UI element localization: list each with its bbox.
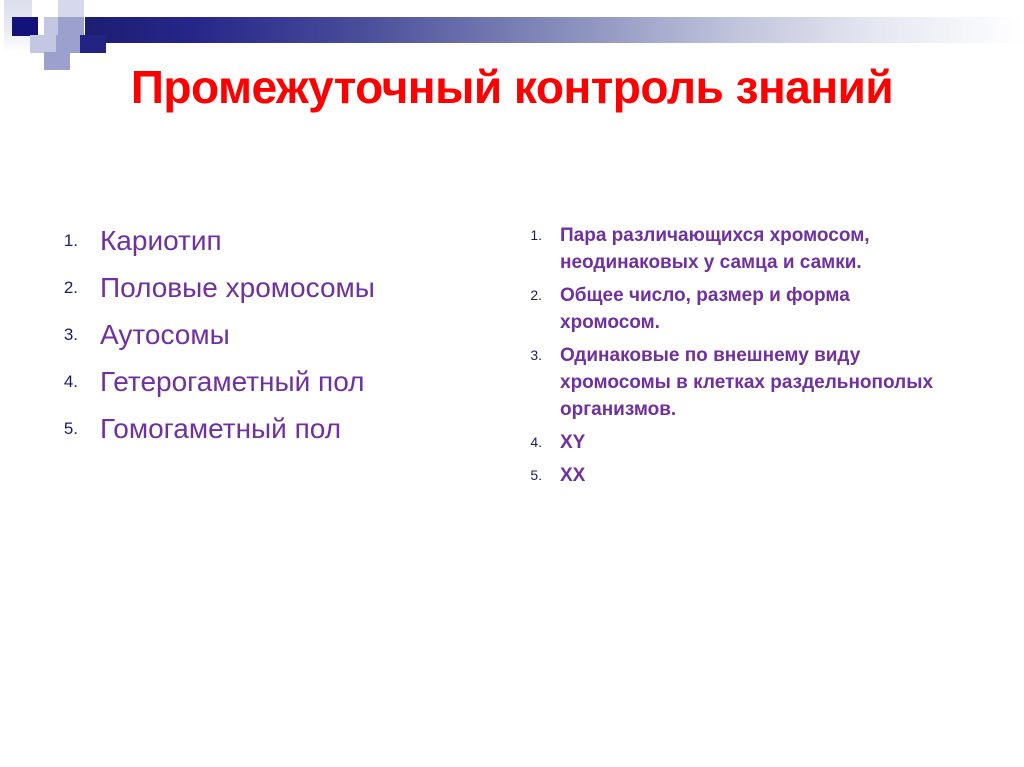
list-item-number: 5. xyxy=(518,462,546,489)
header-gradient-bar xyxy=(85,17,1024,43)
list-item-label: XX xyxy=(546,462,585,489)
list-item-number: 1. xyxy=(518,222,546,249)
list-item: 4. XY xyxy=(518,429,948,456)
list-item: 2. Половые хромосомы xyxy=(48,269,498,307)
list-item-label: Общее число, размер и форма хромосом. xyxy=(546,282,948,336)
list-item-label: Одинаковые по внешнему виду хромосомы в … xyxy=(546,342,948,423)
definitions-column: 1. Пара различающихся хромосом, неодинак… xyxy=(518,222,948,495)
list-item-label: Гетерогаметный пол xyxy=(84,363,365,401)
list-item-number: 2. xyxy=(48,269,84,307)
list-item: 5. Гомогаметный пол xyxy=(48,410,498,448)
list-item-label: Кариотип xyxy=(84,222,222,260)
square-mid-low xyxy=(56,35,82,53)
list-item-label: Половые хромосомы xyxy=(84,269,375,307)
list-item-label: Гомогаметный пол xyxy=(84,410,341,448)
list-item-number: 4. xyxy=(518,429,546,456)
square-navy xyxy=(12,17,38,36)
list-item-number: 3. xyxy=(48,316,84,354)
list-item: 3. Одинаковые по внешнему виду хромосомы… xyxy=(518,342,948,423)
definitions-list: 1. Пара различающихся хромосом, неодинак… xyxy=(518,222,948,489)
square-mid xyxy=(58,17,84,36)
square-darkblue xyxy=(80,35,106,53)
square-pale-top xyxy=(58,0,84,18)
list-item: 2. Общее число, размер и форма хромосом. xyxy=(518,282,948,336)
list-item-label: XY xyxy=(546,429,585,456)
list-item: 5. XX xyxy=(518,462,948,489)
page-title: Промежуточный контроль знаний xyxy=(60,58,964,116)
list-item-number: 1. xyxy=(48,222,84,260)
list-item: 1. Кариотип xyxy=(48,222,498,260)
list-item: 4. Гетерогаметный пол xyxy=(48,363,498,401)
list-item-label: Аутосомы xyxy=(84,316,230,354)
list-item: 3. Аутосомы xyxy=(48,316,498,354)
slide-canvas: Промежуточный контроль знаний 1. Кариоти… xyxy=(0,0,1024,767)
list-item-label: Пара различающихся хромосом, неодинаковы… xyxy=(546,222,948,276)
list-item: 1. Пара различающихся хромосом, неодинак… xyxy=(518,222,948,276)
list-item-number: 5. xyxy=(48,410,84,448)
terms-list: 1. Кариотип 2. Половые хромосомы 3. Ауто… xyxy=(48,222,498,448)
list-item-number: 2. xyxy=(518,282,546,309)
square-light-low xyxy=(30,35,56,53)
terms-column: 1. Кариотип 2. Половые хромосомы 3. Ауто… xyxy=(48,222,498,457)
list-item-number: 3. xyxy=(518,342,546,369)
list-item-number: 4. xyxy=(48,363,84,401)
